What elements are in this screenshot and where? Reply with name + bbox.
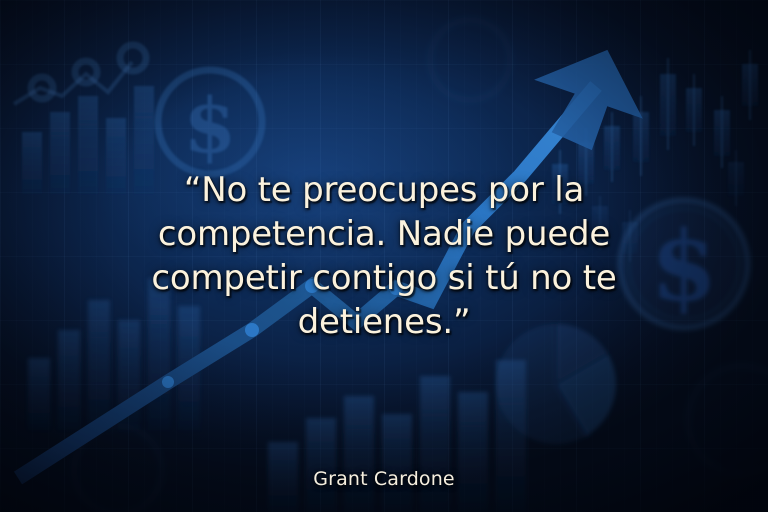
poster-content: “No te preocupes por la competencia. Nad… xyxy=(0,0,768,512)
quote-text: “No te preocupes por la competencia. Nad… xyxy=(114,168,654,344)
author-attribution: Grant Cardone xyxy=(313,468,454,490)
quote-poster: $ $ xyxy=(0,0,768,512)
